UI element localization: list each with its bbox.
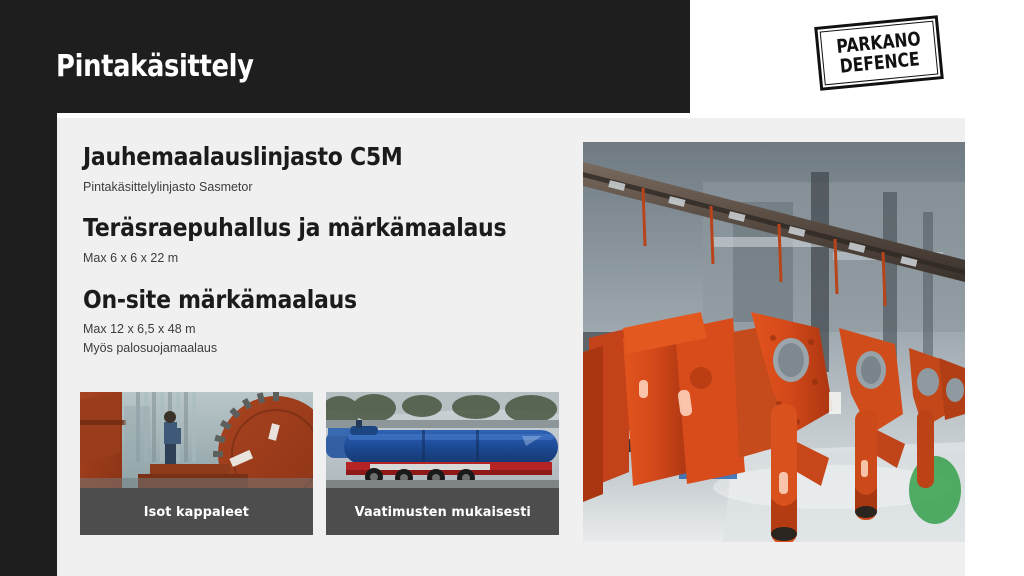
service-block-2: Teräsraepuhallus ja märkämaalaus Max 6 x… (83, 213, 563, 267)
service-block-1: Jauhemaalauslinjasto C5M Pintakäsittelyl… (83, 142, 563, 196)
slide-canvas: Pintakäsittely PARKANO DEFENCE Jauhemaal… (0, 0, 1024, 576)
service-list: Jauhemaalauslinjasto C5M Pintakäsittelyl… (83, 142, 563, 358)
page-title: Pintakäsittely (56, 49, 254, 84)
service-heading: Teräsraepuhallus ja märkämaalaus (83, 213, 505, 243)
thumbnail-caption-text: Vaatimusten mukaisesti (354, 504, 530, 520)
parkano-defence-logo: PARKANO DEFENCE (814, 15, 944, 91)
main-image-paint-line (583, 142, 965, 542)
content-panel: Jauhemaalauslinjasto C5M Pintakäsittelyl… (57, 118, 965, 576)
logo-inner-border: PARKANO DEFENCE (820, 21, 939, 86)
thumbnail-row: Isot kappaleet (80, 392, 559, 535)
left-accent-band (0, 0, 57, 576)
thumbnail-image-gear-wheel (80, 392, 313, 488)
service-heading: Jauhemaalauslinjasto C5M (83, 142, 505, 172)
service-detail-line: Pintakäsittelylinjasto Sasmetor (83, 178, 563, 197)
thumbnail-caption-text: Isot kappaleet (144, 504, 249, 520)
service-detail-line: Max 12 x 6,5 x 48 m (83, 320, 563, 339)
service-detail-line: Max 6 x 6 x 22 m (83, 249, 563, 268)
thumbnail-card-isot-kappaleet[interactable]: Isot kappaleet (80, 392, 313, 535)
service-detail-line: Myös palosuojamaalaus (83, 339, 563, 358)
logo-line-defence: DEFENCE (839, 50, 920, 77)
service-block-3: On-site märkämaalaus Max 12 x 6,5 x 48 m… (83, 285, 563, 358)
service-heading: On-site märkämaalaus (83, 285, 505, 315)
thumbnail-card-vaatimusten-mukaisesti[interactable]: Vaatimusten mukaisesti (326, 392, 559, 535)
thumbnail-image-tanker-trailer (326, 392, 559, 488)
thumbnail-caption-bar: Isot kappaleet (80, 488, 313, 535)
thumbnail-caption-bar: Vaatimusten mukaisesti (326, 488, 559, 535)
